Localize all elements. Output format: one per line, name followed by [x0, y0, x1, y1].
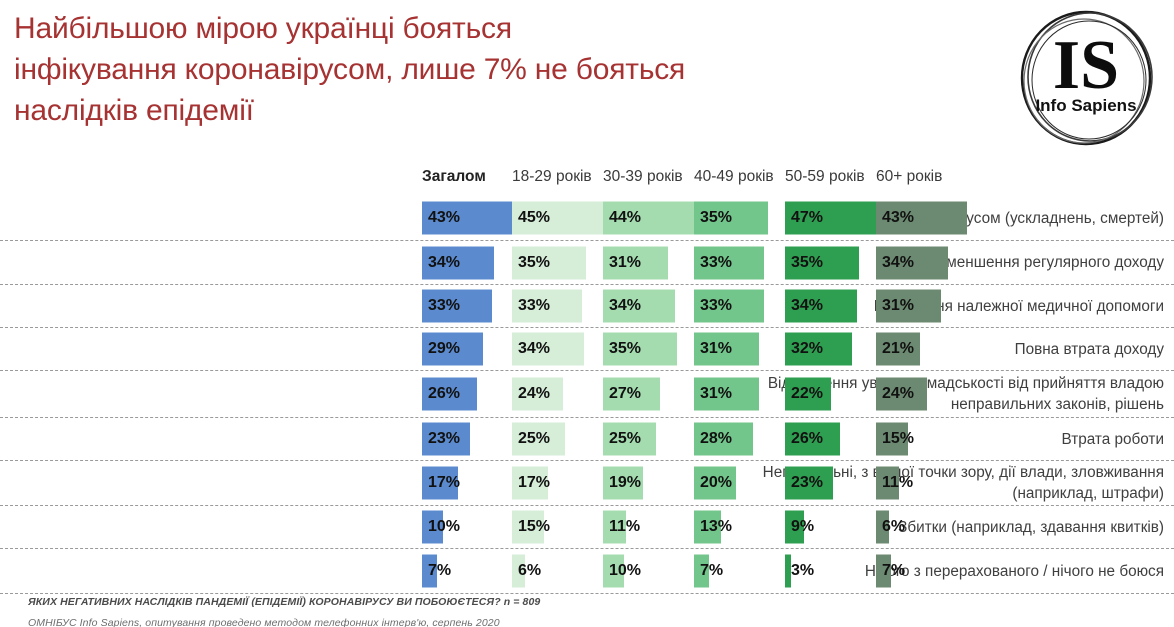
value-label: 35%	[518, 254, 550, 272]
data-cell: 31%	[876, 285, 1002, 327]
value-label: 35%	[700, 209, 732, 227]
value-label: 13%	[700, 518, 732, 536]
value-label: 10%	[428, 518, 460, 536]
value-label: 17%	[518, 474, 550, 492]
data-cell: 24%	[876, 371, 1002, 417]
column-header-2: 30-39 років	[603, 168, 683, 186]
value-label: 7%	[700, 562, 723, 580]
data-cell: 43%	[876, 196, 1002, 240]
value-label: 23%	[428, 430, 460, 448]
value-label: 24%	[518, 385, 550, 403]
value-label: 7%	[428, 562, 451, 580]
value-label: 25%	[609, 430, 641, 448]
value-label: 26%	[428, 385, 460, 403]
table-row: Втрата роботи23%25%25%28%26%15%	[0, 418, 1174, 461]
value-label: 33%	[700, 254, 732, 272]
table-header-row: Загалом18-29 років30-39 років40-49 років…	[0, 168, 1174, 196]
table-row: Ненадання належної медичної допомоги33%3…	[0, 285, 1174, 328]
row-cells: 33%33%34%33%34%31%	[0, 285, 1174, 327]
logo-wordmark: Info Sapiens	[1035, 96, 1136, 115]
table-row: Неправильні, з вашої точки зору, дії вла…	[0, 461, 1174, 506]
value-label: 6%	[518, 562, 541, 580]
value-label: 35%	[791, 254, 823, 272]
value-label: 17%	[428, 474, 460, 492]
value-label: 34%	[518, 340, 550, 358]
value-label: 43%	[882, 209, 914, 227]
row-cells: 10%15%11%13%9%6%	[0, 506, 1174, 548]
value-label: 11%	[882, 474, 913, 492]
value-label: 31%	[700, 340, 732, 358]
value-label: 10%	[609, 562, 641, 580]
value-label: 6%	[882, 518, 905, 536]
table-row: Зменшення регулярного доходу34%35%31%33%…	[0, 241, 1174, 285]
table-row: Повна втрата доходу29%34%35%31%32%21%	[0, 328, 1174, 371]
column-header-4: 50-59 років	[785, 168, 865, 186]
row-cells: 26%24%27%31%22%24%	[0, 371, 1174, 417]
value-label: 26%	[791, 430, 823, 448]
value-label: 7%	[882, 562, 905, 580]
value-label: 31%	[609, 254, 641, 272]
row-cells: 29%34%35%31%32%21%	[0, 328, 1174, 370]
table-row: Нічого з перерахованого / нічого не боюс…	[0, 549, 1174, 594]
data-cell: 7%	[876, 549, 1002, 593]
data-cell: 21%	[876, 328, 1002, 370]
data-cell: 11%	[876, 461, 1002, 505]
value-label: 34%	[609, 297, 641, 315]
column-header-1: 18-29 років	[512, 168, 592, 186]
row-cells: 43%45%44%35%47%43%	[0, 196, 1174, 240]
value-label: 47%	[791, 209, 823, 227]
value-label: 45%	[518, 209, 550, 227]
value-label: 20%	[700, 474, 732, 492]
value-label: 21%	[882, 340, 914, 358]
table-body: Зараження коронавірусом (ускладнень, сме…	[0, 196, 1174, 594]
value-label: 29%	[428, 340, 460, 358]
value-label: 15%	[518, 518, 550, 536]
data-cell: 34%	[876, 241, 1002, 284]
value-label: 32%	[791, 340, 823, 358]
value-label: 33%	[518, 297, 550, 315]
value-label: 19%	[609, 474, 641, 492]
footnote-question: ЯКИХ НЕГАТИВНИХ НАСЛІДКІВ ПАНДЕМІЇ (ЕПІД…	[28, 596, 540, 608]
data-cell: 15%	[876, 418, 1002, 460]
value-label: 33%	[428, 297, 460, 315]
value-label: 34%	[428, 254, 460, 272]
column-header-3: 40-49 років	[694, 168, 774, 186]
logo-monogram: IS	[1053, 27, 1119, 104]
value-label: 3%	[791, 562, 814, 580]
value-label: 15%	[882, 430, 914, 448]
value-label: 28%	[700, 430, 732, 448]
value-label: 11%	[609, 518, 640, 536]
value-label: 43%	[428, 209, 460, 227]
infographic-page: Найбільшою мірою українці бояться інфіку…	[0, 0, 1174, 627]
column-header-0: Загалом	[422, 168, 486, 186]
table-row: Зараження коронавірусом (ускладнень, сме…	[0, 196, 1174, 241]
data-cell: 6%	[876, 506, 1002, 548]
value-label: 34%	[882, 254, 914, 272]
value-label: 22%	[791, 385, 823, 403]
row-cells: 23%25%25%28%26%15%	[0, 418, 1174, 460]
table-row: Відвернення уваги громадськості від прий…	[0, 371, 1174, 418]
page-title: Найбільшою мірою українці бояться інфіку…	[14, 8, 974, 131]
value-label: 34%	[791, 297, 823, 315]
value-label: 9%	[791, 518, 814, 536]
value-label: 27%	[609, 385, 641, 403]
footnote-secondary: ОМНІБУС Info Sapiens, опитування проведе…	[28, 617, 500, 627]
value-label: 35%	[609, 340, 641, 358]
value-label: 33%	[700, 297, 732, 315]
info-sapiens-logo: IS Info Sapiens	[1014, 6, 1164, 152]
value-label: 31%	[882, 297, 914, 315]
value-label: 25%	[518, 430, 550, 448]
value-label: 31%	[700, 385, 732, 403]
table-row: Збитки (наприклад, здавання квитків)10%1…	[0, 506, 1174, 549]
value-label: 24%	[882, 385, 914, 403]
column-header-5: 60+ років	[876, 168, 942, 186]
data-table: Загалом18-29 років30-39 років40-49 років…	[0, 168, 1174, 594]
value-label: 23%	[791, 474, 823, 492]
row-cells: 7%6%10%7%3%7%	[0, 549, 1174, 593]
value-label: 44%	[609, 209, 641, 227]
row-cells: 17%17%19%20%23%11%	[0, 461, 1174, 505]
logo-icon: IS Info Sapiens	[1014, 6, 1164, 152]
row-cells: 34%35%31%33%35%34%	[0, 241, 1174, 284]
